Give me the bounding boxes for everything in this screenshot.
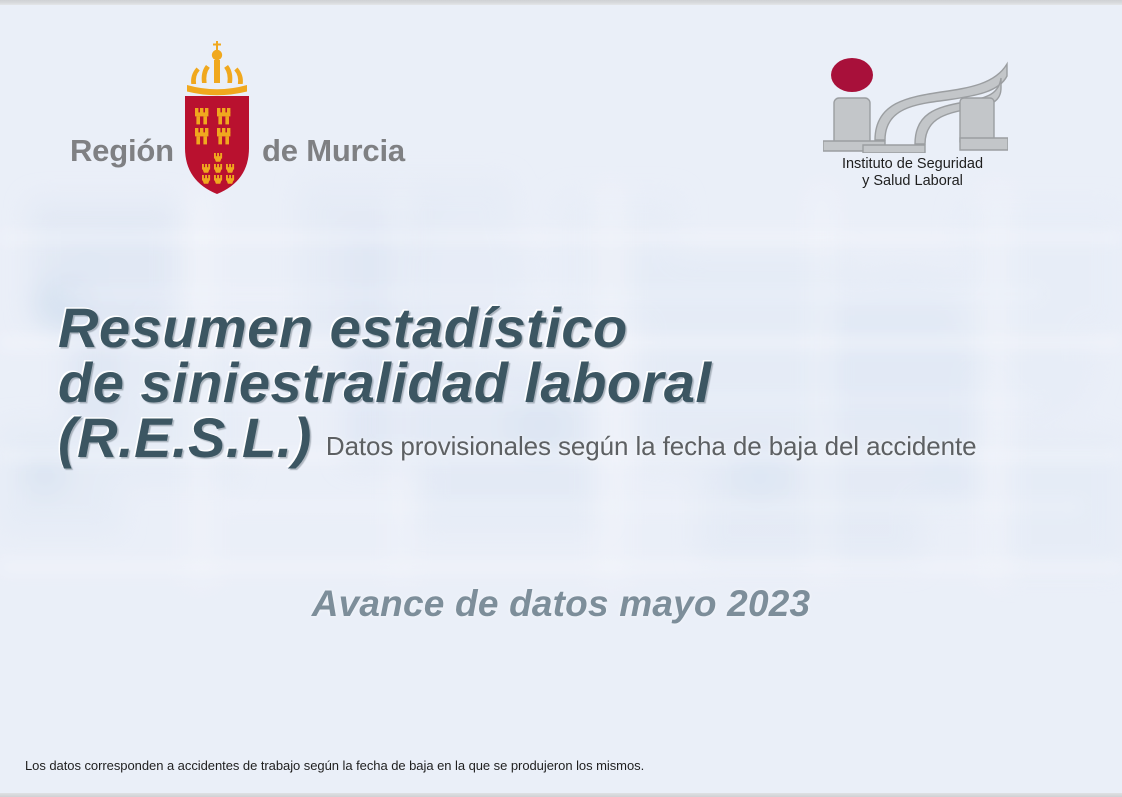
title-line-3: (R.E.S.L.) [58,410,312,465]
footnote-text: Los datos corresponden a accidentes de t… [25,758,644,773]
institute-logo: Instituto de Seguridad y Salud Laboral [815,58,1010,193]
window-top-rule [0,0,1122,5]
de-murcia-label: de Murcia [262,135,405,166]
slide-canvas: Región de Murcia [0,0,1122,797]
advance-heading: Avance de datos mayo 2023 [0,583,1122,625]
institute-caption-line-2: y Salud Laboral [815,173,1010,190]
title-line-1: Resumen estadístico [58,300,1098,355]
page-title: Resumen estadístico de siniestralidad la… [58,300,1098,465]
title-line-3-row: (R.E.S.L.) Datos provisionales según la … [58,410,1098,465]
institute-caption: Instituto de Seguridad y Salud Laboral [815,156,1010,190]
title-line-2: de siniestralidad laboral [58,355,1098,410]
title-subtitle: Datos provisionales según la fecha de ba… [326,431,977,462]
window-bottom-rule [0,793,1122,797]
institute-caption-line-1: Instituto de Seguridad [815,156,1010,173]
royal-crown-icon [187,41,247,95]
issl-isl-monogram-icon [823,58,1008,153]
murcia-coat-of-arms-icon [179,36,255,201]
region-de-murcia-logo: Región de Murcia [70,36,420,201]
region-label: Región [70,135,174,166]
